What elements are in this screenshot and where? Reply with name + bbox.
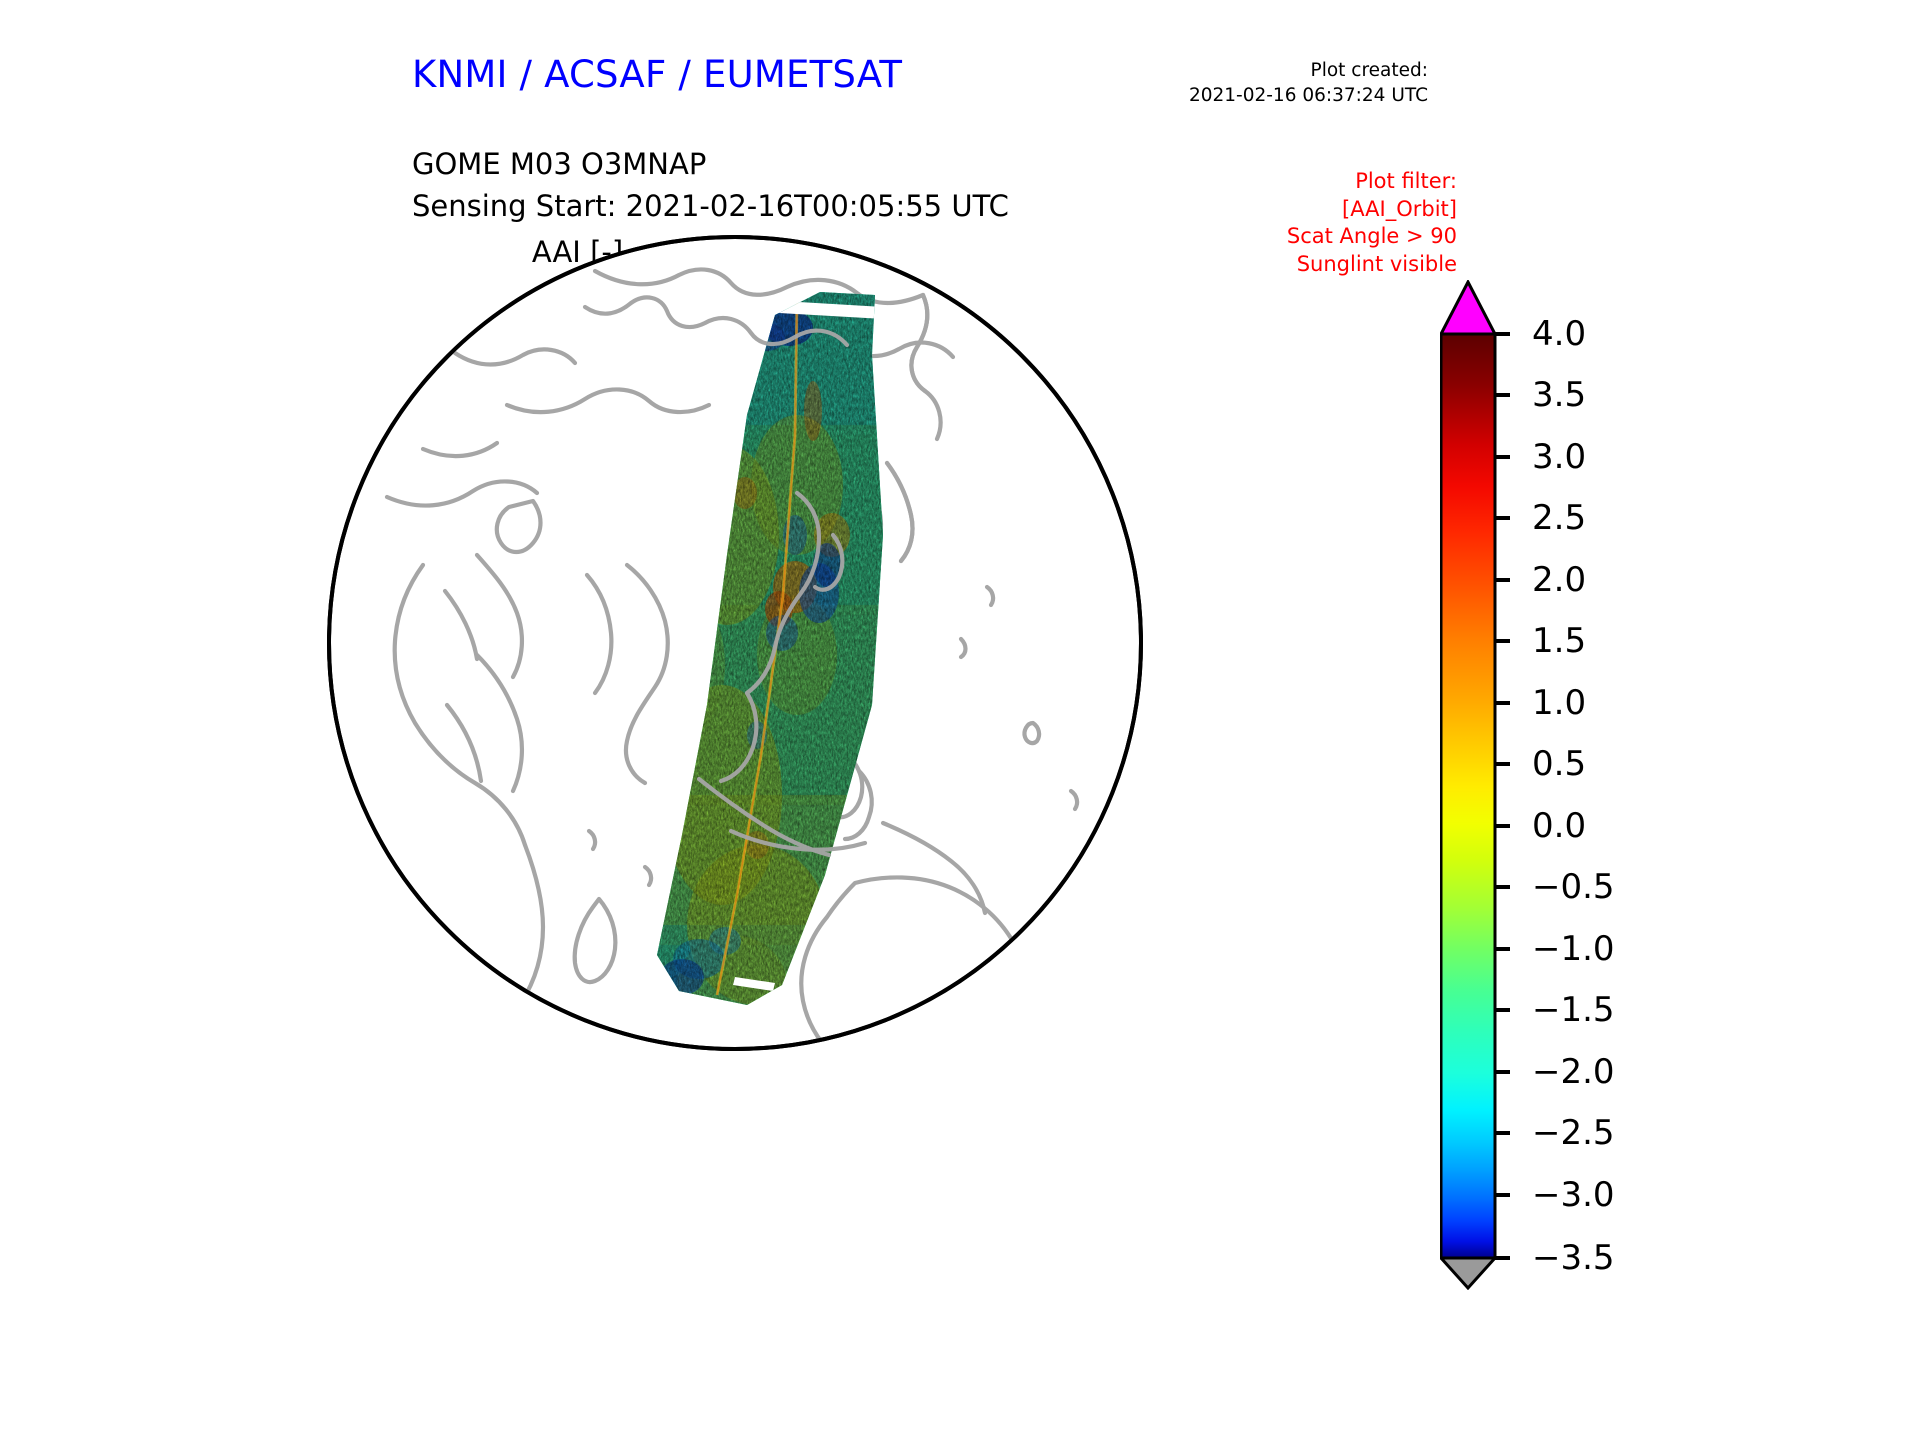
colorbar-tick-labels: 4.0 3.5 3.0 2.5 2.0 1.5 1.0 0.5 0.0 −0.5… [1516,280,1696,1290]
colorbar-tick-1.0: 1.0 [1532,686,1586,720]
colorbar-tick-neg1.0: −1.0 [1532,932,1615,966]
plot-created-timestamp: 2021-02-16 06:37:24 UTC [1189,83,1428,108]
colorbar-ticks [1495,334,1510,1258]
colorbar-tick-neg2.5: −2.5 [1532,1116,1615,1150]
colorbar-tick-4.0: 4.0 [1532,317,1586,351]
plot-created-label: Plot created: [1189,58,1428,83]
plot-filter-scatang: Scat Angle > 90 [1287,223,1457,251]
colorbar-tick-neg3.5: −3.5 [1532,1241,1615,1275]
sensing-start-line: Sensing Start: 2021-02-16T00:05:55 UTC [412,185,1009,227]
colorbar-tick-neg3.0: −3.0 [1532,1178,1615,1212]
colorbar-tick-neg0.5: −0.5 [1532,870,1615,904]
colorbar-tick-neg1.5: −1.5 [1532,993,1615,1027]
colorbar-tick-0.5: 0.5 [1532,747,1586,781]
plot-filter-block: Plot filter: [AAI_Orbit] Scat Angle > 90… [1287,168,1457,278]
colorbar-gradient [1440,280,1510,1290]
colorbar-tick-2.0: 2.0 [1532,563,1586,597]
organisation-title: KNMI / ACSAF / EUMETSAT [412,53,902,96]
colorbar-tick-3.0: 3.0 [1532,440,1586,474]
colorbar: 4.0 3.5 3.0 2.5 2.0 1.5 1.0 0.5 0.0 −0.5… [1440,280,1700,1290]
colorbar-tick-0.0: 0.0 [1532,809,1586,843]
instrument-line: GOME M03 O3MNAP [412,143,1009,185]
plot-filter-label: Plot filter: [1287,168,1457,196]
dataset-info-block: GOME M03 O3MNAP Sensing Start: 2021-02-1… [412,143,1009,227]
map-area [327,235,1143,1051]
colorbar-tick-neg2.0: −2.0 [1532,1055,1615,1089]
globe-orthographic-map [327,235,1143,1051]
colorbar-bar [1441,334,1495,1258]
colorbar-tick-2.5: 2.5 [1532,501,1586,535]
plot-filter-sunglint: Sunglint visible [1287,251,1457,279]
plot-created-block: Plot created: 2021-02-16 06:37:24 UTC [1189,58,1428,108]
colorbar-over-arrow [1441,282,1495,334]
plot-filter-orbit: [AAI_Orbit] [1287,196,1457,224]
colorbar-tick-3.5: 3.5 [1532,378,1586,412]
colorbar-under-arrow [1441,1258,1495,1288]
colorbar-tick-1.5: 1.5 [1532,624,1586,658]
